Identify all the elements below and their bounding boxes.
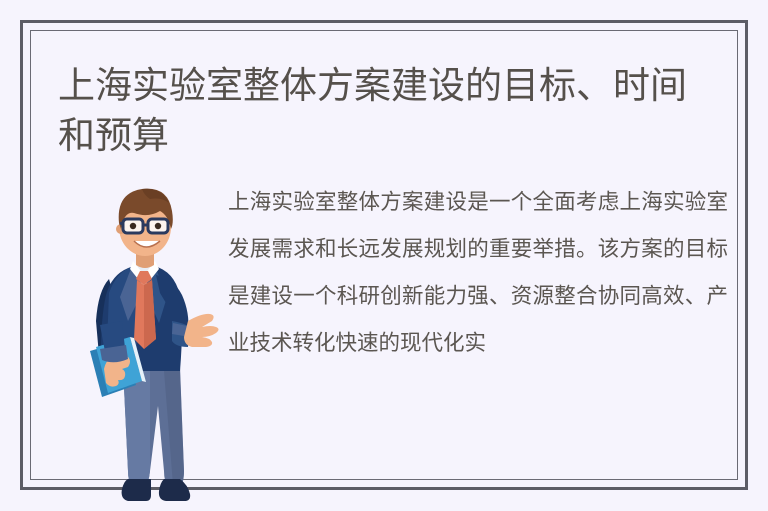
content-card-inner-frame: 上海实验室整体方案建设的目标、时间和预算 bbox=[30, 30, 738, 480]
article-body: 上海实验室整体方案建设是一个全面考虑上海实验室发展需求和长远发展规划的重要举措。… bbox=[228, 179, 728, 367]
businessman-icon bbox=[76, 171, 226, 511]
content-card: 上海实验室整体方案建设的目标、时间和预算 bbox=[20, 20, 748, 490]
businessman-illustration bbox=[76, 171, 226, 511]
page-title: 上海实验室整体方案建设的目标、时间和预算 bbox=[58, 61, 708, 161]
